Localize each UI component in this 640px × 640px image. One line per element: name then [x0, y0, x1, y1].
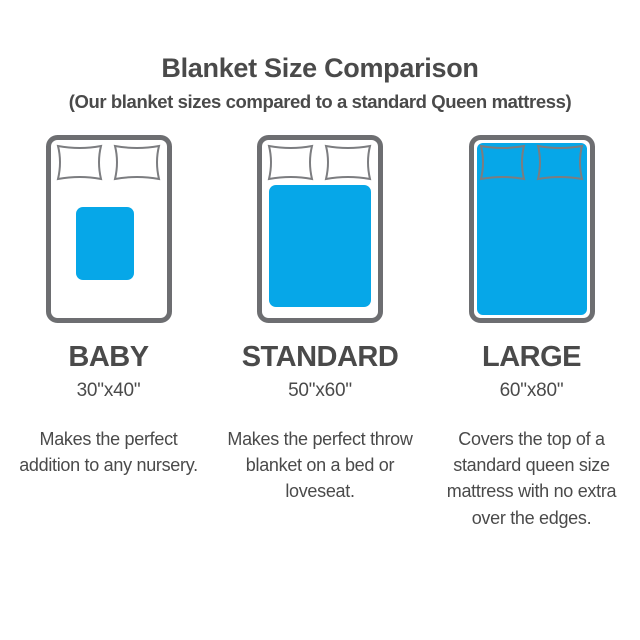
pillow-left-icon [269, 146, 312, 179]
size-name-large: LARGE [482, 343, 581, 372]
size-description-baby: Makes the perfect addition to any nurser… [14, 426, 204, 479]
size-column-standard: STANDARD 50"x60" Makes the perfect throw… [218, 134, 423, 505]
size-name-baby: BABY [68, 343, 148, 372]
bed-diagram-standard [218, 134, 423, 326]
pillow-right-icon [326, 146, 370, 179]
page-title: Blanket Size Comparison [0, 54, 640, 84]
page-subtitle: (Our blanket sizes compared to a standar… [0, 91, 640, 112]
pillow-left-icon [58, 146, 101, 179]
bed-illustration-icon [45, 134, 173, 324]
blanket-shape [76, 207, 134, 280]
size-dimensions-baby: 30"x40" [77, 381, 141, 400]
size-dimensions-large: 60"x80" [500, 381, 564, 400]
size-column-baby: BABY 30"x40" Makes the perfect addition … [6, 134, 211, 479]
bed-illustration-icon [256, 134, 384, 324]
size-description-large: Covers the top of a standard queen size … [437, 426, 627, 531]
size-column-large: LARGE 60"x80" Covers the top of a standa… [429, 134, 634, 531]
bed-illustration-icon [468, 134, 596, 324]
comparison-columns: BABY 30"x40" Makes the perfect addition … [0, 134, 640, 531]
blanket-shape [477, 143, 587, 315]
size-description-standard: Makes the perfect throw blanket on a bed… [225, 426, 415, 505]
pillow-right-icon [115, 146, 159, 179]
blanket-shape [269, 185, 371, 307]
size-dimensions-standard: 50"x60" [288, 381, 352, 400]
size-name-standard: STANDARD [242, 343, 399, 372]
bed-diagram-baby [6, 134, 211, 326]
header: Blanket Size Comparison (Our blanket siz… [0, 0, 640, 112]
bed-diagram-large [429, 134, 634, 326]
